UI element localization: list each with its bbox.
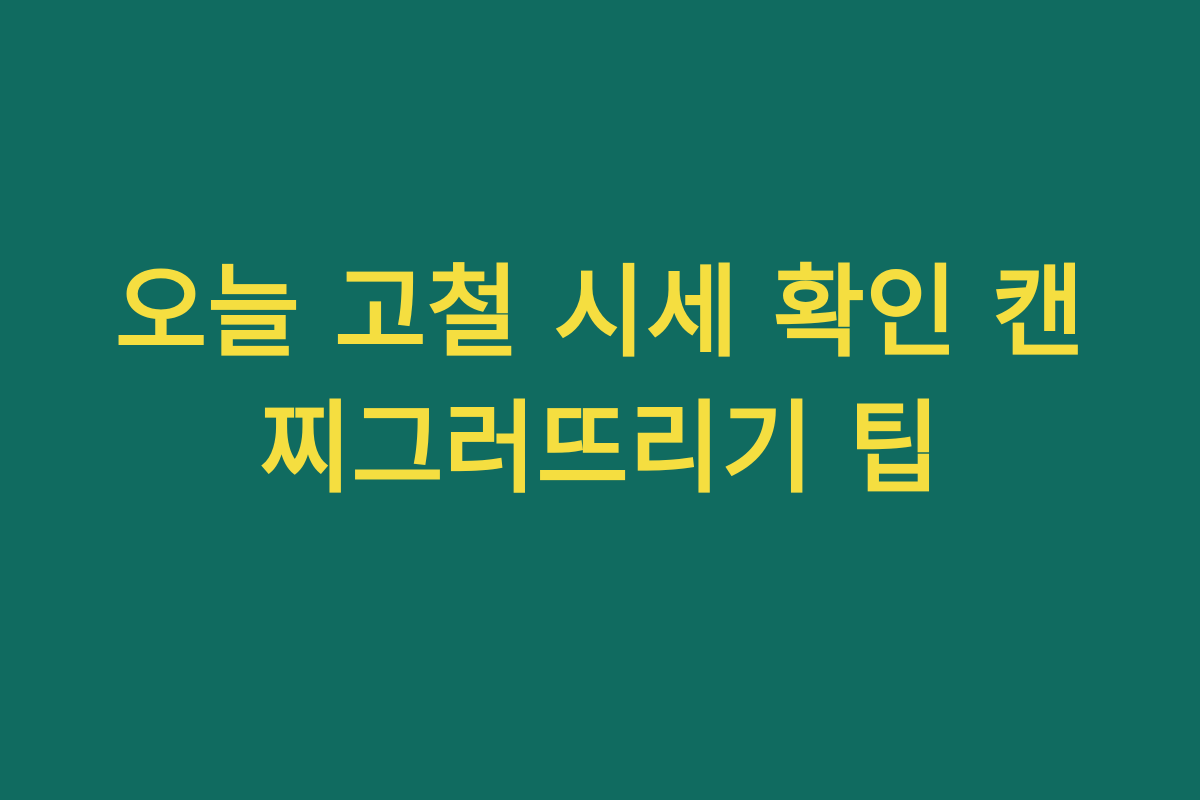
banner-canvas: 오늘 고철 시세 확인 캔 찌그러뜨리기 팁	[0, 0, 1200, 800]
headline-line-2: 찌그러뜨리기 팁	[50, 384, 1150, 514]
headline-line-1: 오늘 고철 시세 확인 캔	[50, 248, 1150, 378]
headline-text-block: 오늘 고철 시세 확인 캔 찌그러뜨리기 팁	[50, 248, 1150, 514]
